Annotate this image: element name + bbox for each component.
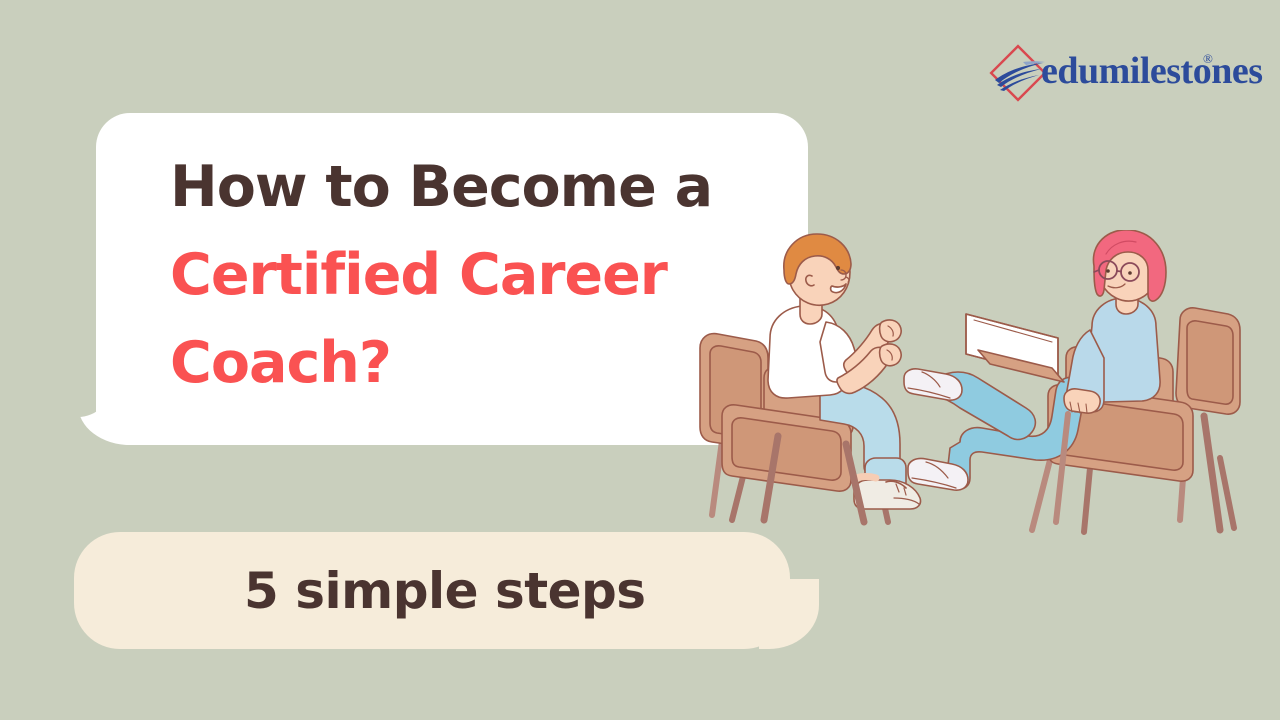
steps-label: 5 simple steps	[244, 562, 646, 620]
title-line-1: How to Become a	[170, 143, 770, 231]
slide-canvas: edumilestones ® How to Become a Certifie…	[0, 0, 1280, 720]
steps-banner: 5 simple steps	[74, 532, 819, 649]
logo-wordmark: edumilestones	[1041, 49, 1263, 93]
career-coaching-session-illustration	[660, 230, 1280, 540]
steps-banner-tail-notch	[787, 532, 819, 576]
registered-trademark-symbol: ®	[1203, 51, 1213, 67]
edumilestones-logo[interactable]: edumilestones ®	[985, 40, 1235, 106]
